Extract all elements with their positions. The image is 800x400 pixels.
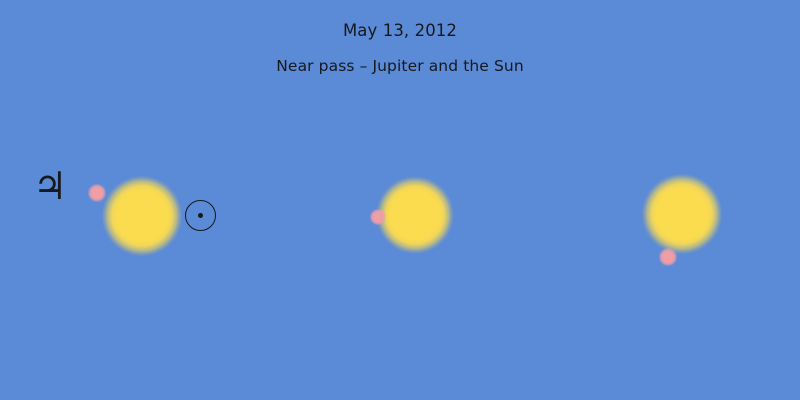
jupiter-disc (88, 184, 107, 203)
page-title: May 13, 2012 (0, 21, 800, 40)
jupiter-disc (659, 248, 678, 267)
page-subtitle: Near pass – Jupiter and the Sun (0, 57, 800, 75)
sun-disc (642, 174, 723, 255)
sky-canvas: May 13, 2012 Near pass – Jupiter and the… (0, 0, 800, 400)
sun-symbol-icon (185, 200, 216, 231)
jupiter-symbol-icon: ♃ (33, 167, 67, 205)
jupiter-disc (370, 209, 387, 226)
sun-disc (376, 176, 454, 254)
sun-disc (102, 176, 183, 257)
